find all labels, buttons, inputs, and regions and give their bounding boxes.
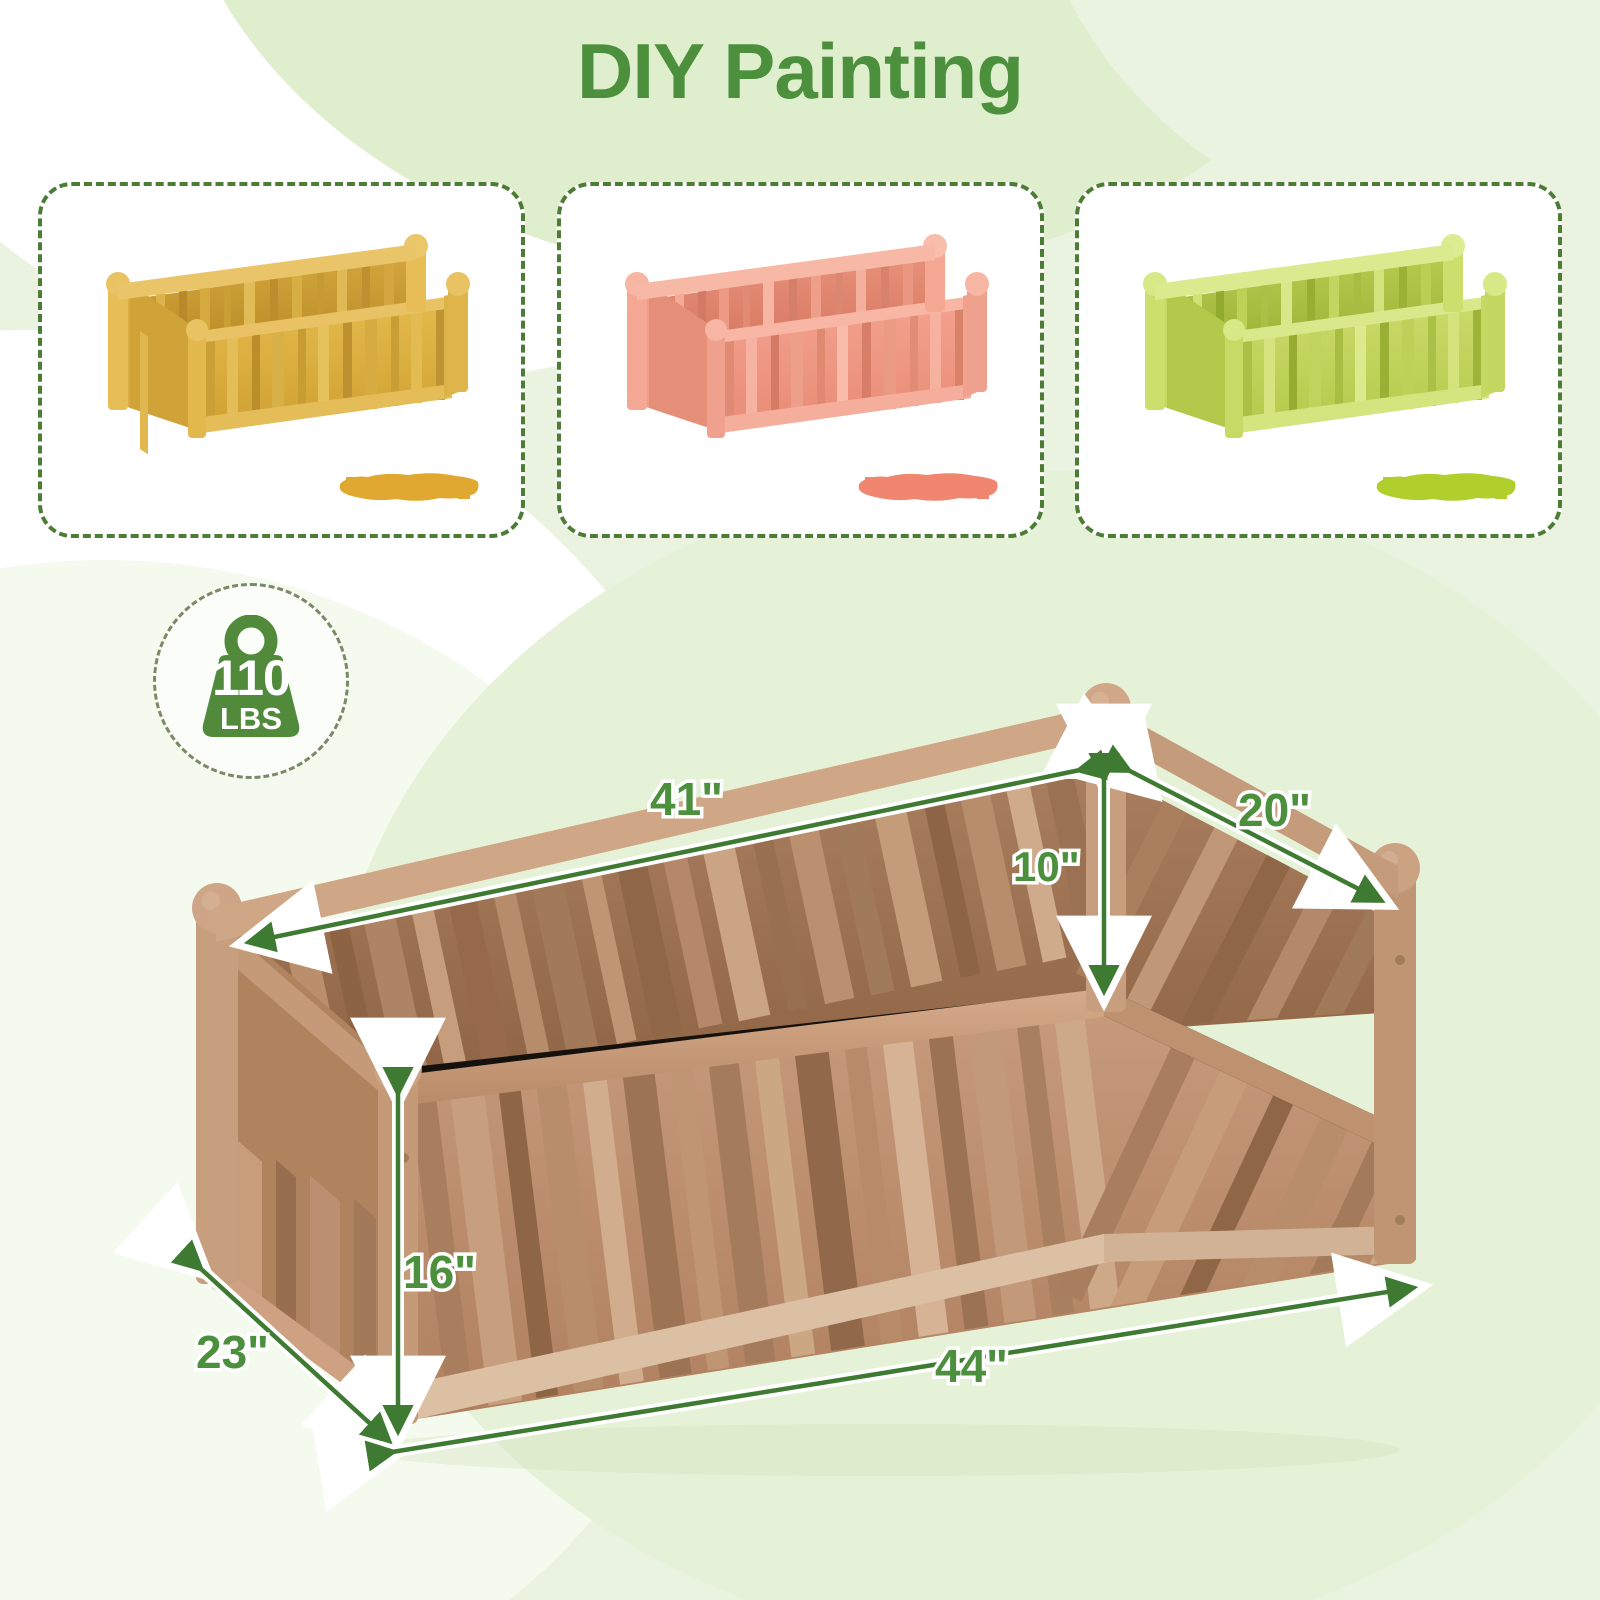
main-product-image — [0, 660, 1600, 1600]
yellow-planter-image — [84, 222, 484, 454]
yellow-paint-swatch — [338, 468, 481, 508]
dimension-label-base-length: 44" — [935, 1339, 1008, 1393]
dimension-label-height: 16" — [403, 1245, 476, 1299]
page-title: DIY Painting — [0, 26, 1600, 117]
dimension-label-inner-depth: 10" — [1013, 843, 1080, 891]
coral-paint-swatch — [857, 468, 1000, 508]
diy-card-lime[interactable] — [1075, 182, 1562, 538]
lime-paint-swatch — [1375, 468, 1518, 508]
diy-card-coral[interactable] — [557, 182, 1044, 538]
diy-card-row — [38, 182, 1562, 538]
dimension-label-base-width: 23" — [196, 1325, 269, 1379]
diy-card-yellow[interactable] — [38, 182, 525, 538]
coral-planter-image — [603, 222, 1003, 454]
dimension-label-top-length: 41" — [650, 772, 723, 826]
dimension-arrows — [0, 660, 1600, 1600]
lime-planter-image — [1121, 222, 1521, 454]
dimension-label-top-width: 20" — [1238, 783, 1311, 837]
